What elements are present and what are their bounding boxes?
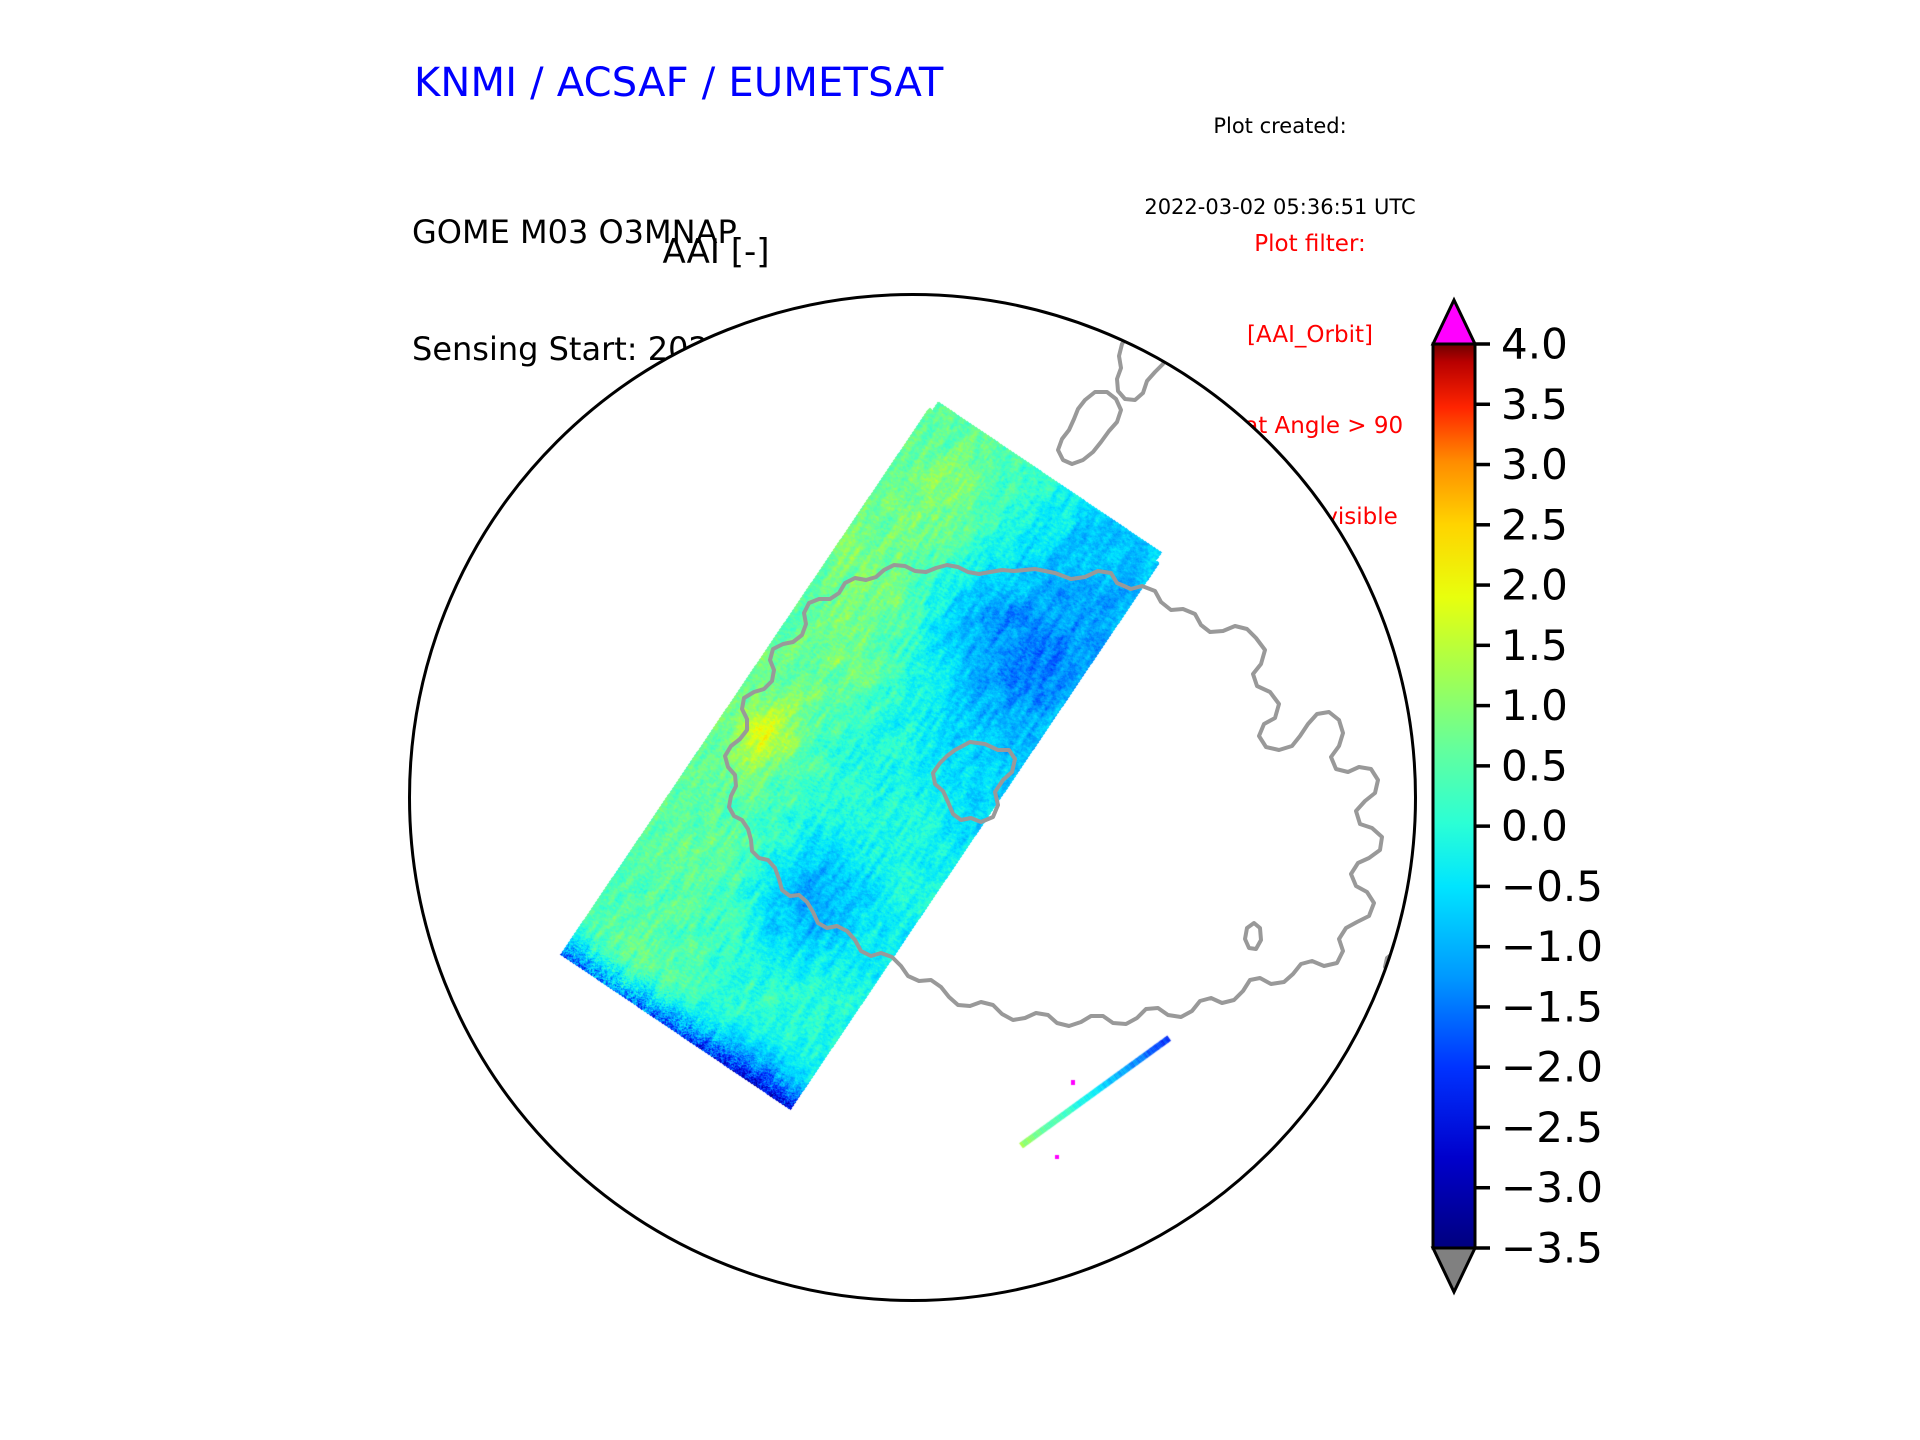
colorbar-tick-label: −3.5 xyxy=(1501,1224,1603,1273)
colorbar-tick-label: 3.0 xyxy=(1501,440,1568,489)
colorbar-tick-label: 4.0 xyxy=(1501,320,1568,369)
colorbar-tick-label: 3.5 xyxy=(1501,380,1568,429)
colorbar-tick-label: −0.5 xyxy=(1501,862,1603,911)
satellite-swath xyxy=(395,280,1430,1315)
colorbar-under-arrow xyxy=(1433,1248,1475,1292)
map-svg xyxy=(395,280,1430,1315)
organization-title: KNMI / ACSAF / EUMETSAT xyxy=(414,60,944,107)
plot-canvas: KNMI / ACSAF / EUMETSAT GOME M03 O3MNAP … xyxy=(0,0,1920,1440)
colorbar-gradient xyxy=(1433,344,1475,1248)
colorbar-tick-label: 2.0 xyxy=(1501,561,1568,610)
colorbar-svg: 4.03.53.02.52.01.51.00.50.0−0.5−1.0−1.5−… xyxy=(1425,286,1895,1326)
colorbar-tick-label: −3.0 xyxy=(1501,1163,1603,1212)
coastline-island-west xyxy=(651,1254,674,1278)
colorbar-ticks: 4.03.53.02.52.01.51.00.50.0−0.5−1.0−1.5−… xyxy=(1475,320,1603,1273)
colorbar-tick-label: 2.5 xyxy=(1501,500,1568,549)
plot-created-label: Plot created: xyxy=(1100,113,1460,140)
colorbar-tick-label: −2.5 xyxy=(1501,1103,1603,1152)
colorbar-tick-label: 1.0 xyxy=(1501,681,1568,730)
filter-line-0: Plot filter: xyxy=(1160,229,1460,259)
colorbar-tick-label: 0.5 xyxy=(1501,741,1568,790)
colorbar-over-arrow xyxy=(1433,300,1475,344)
colorbar: 4.03.53.02.52.01.51.00.50.0−0.5−1.0−1.5−… xyxy=(1425,286,1895,1326)
colorbar-tick-label: 1.5 xyxy=(1501,621,1568,670)
colorbar-tick-label: −1.5 xyxy=(1501,982,1603,1031)
colorbar-tick-label: 0.0 xyxy=(1501,802,1568,851)
colorbar-tick-label: −1.0 xyxy=(1501,922,1603,971)
map-globe xyxy=(395,280,1430,1315)
colorbar-tick-label: −2.0 xyxy=(1501,1043,1603,1092)
